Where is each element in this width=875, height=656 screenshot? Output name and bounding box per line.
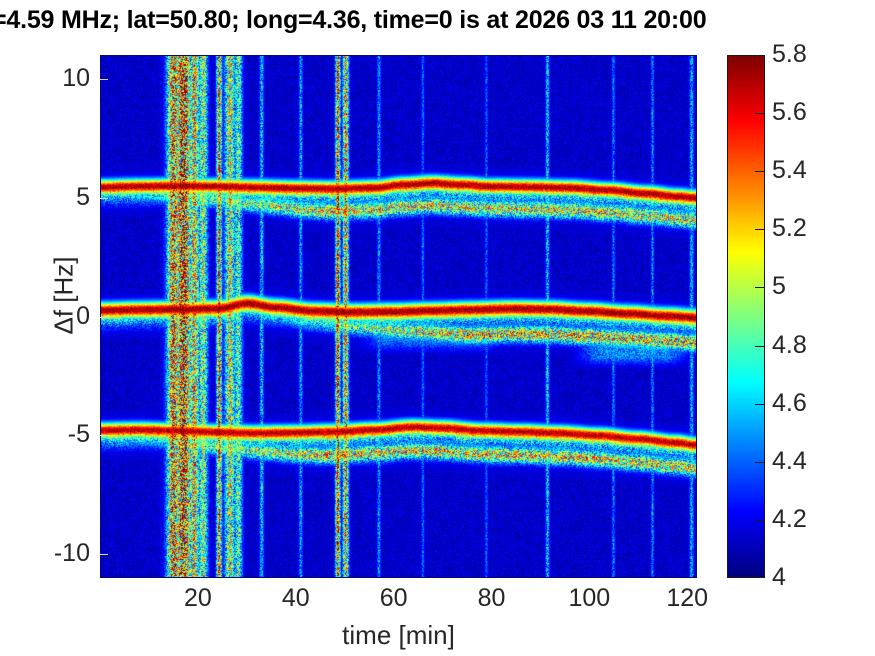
y-tick-label: 5 <box>46 185 90 210</box>
colorbar-tick-mark <box>755 171 764 172</box>
x-tick-label: 40 <box>256 586 336 611</box>
y-tick-label: -5 <box>46 422 90 447</box>
colorbar-tick-label: 4.2 <box>772 507 807 532</box>
x-tick-label: 100 <box>549 586 629 611</box>
y-tick-mark <box>100 554 108 555</box>
y-tick-mark <box>100 198 108 199</box>
colorbar-tick-label: 5.2 <box>772 216 807 241</box>
colorbar-tick-label: 5 <box>772 274 786 299</box>
y-axis-label: Δf [Hz] <box>49 216 80 376</box>
colorbar-tick-label: 5.4 <box>772 158 807 183</box>
y-tick-mark <box>100 317 108 318</box>
colorbar-tick-mark <box>755 462 764 463</box>
colorbar-tick-mark <box>755 229 764 230</box>
x-tick-label: 60 <box>354 586 434 611</box>
colorbar-tick-mark <box>755 520 764 521</box>
colorbar-tick-mark <box>755 346 764 347</box>
colorbar-tick-label: 4.4 <box>772 449 807 474</box>
spectrogram-canvas[interactable] <box>100 55 697 578</box>
y-tick-mark <box>100 79 108 80</box>
colorbar-tick-label: 5.8 <box>772 42 807 67</box>
y-tick-mark <box>100 435 108 436</box>
x-tick-label: 20 <box>158 586 238 611</box>
colorbar-tick-label: 4.6 <box>772 391 807 416</box>
x-axis-label: time [min] <box>100 620 697 651</box>
x-tick-label: 80 <box>451 586 531 611</box>
y-tick-label: -10 <box>46 541 90 566</box>
colorbar-tick-mark <box>755 404 764 405</box>
colorbar-tick-label: 4.8 <box>772 333 807 358</box>
colorbar[interactable] <box>727 55 765 578</box>
spectrogram-plot-area[interactable] <box>100 55 697 578</box>
y-tick-label: 10 <box>46 66 90 91</box>
x-tick-label: 120 <box>647 586 727 611</box>
colorbar-gradient <box>728 56 764 577</box>
colorbar-tick-mark <box>755 113 764 114</box>
y-tick-label: 0 <box>46 304 90 329</box>
colorbar-tick-mark <box>755 287 764 288</box>
colorbar-tick-label: 5.6 <box>772 100 807 125</box>
colorbar-tick-label: 4 <box>772 565 786 590</box>
page-title: =4.59 MHz; lat=50.80; long=4.36, time=0 … <box>0 6 875 40</box>
